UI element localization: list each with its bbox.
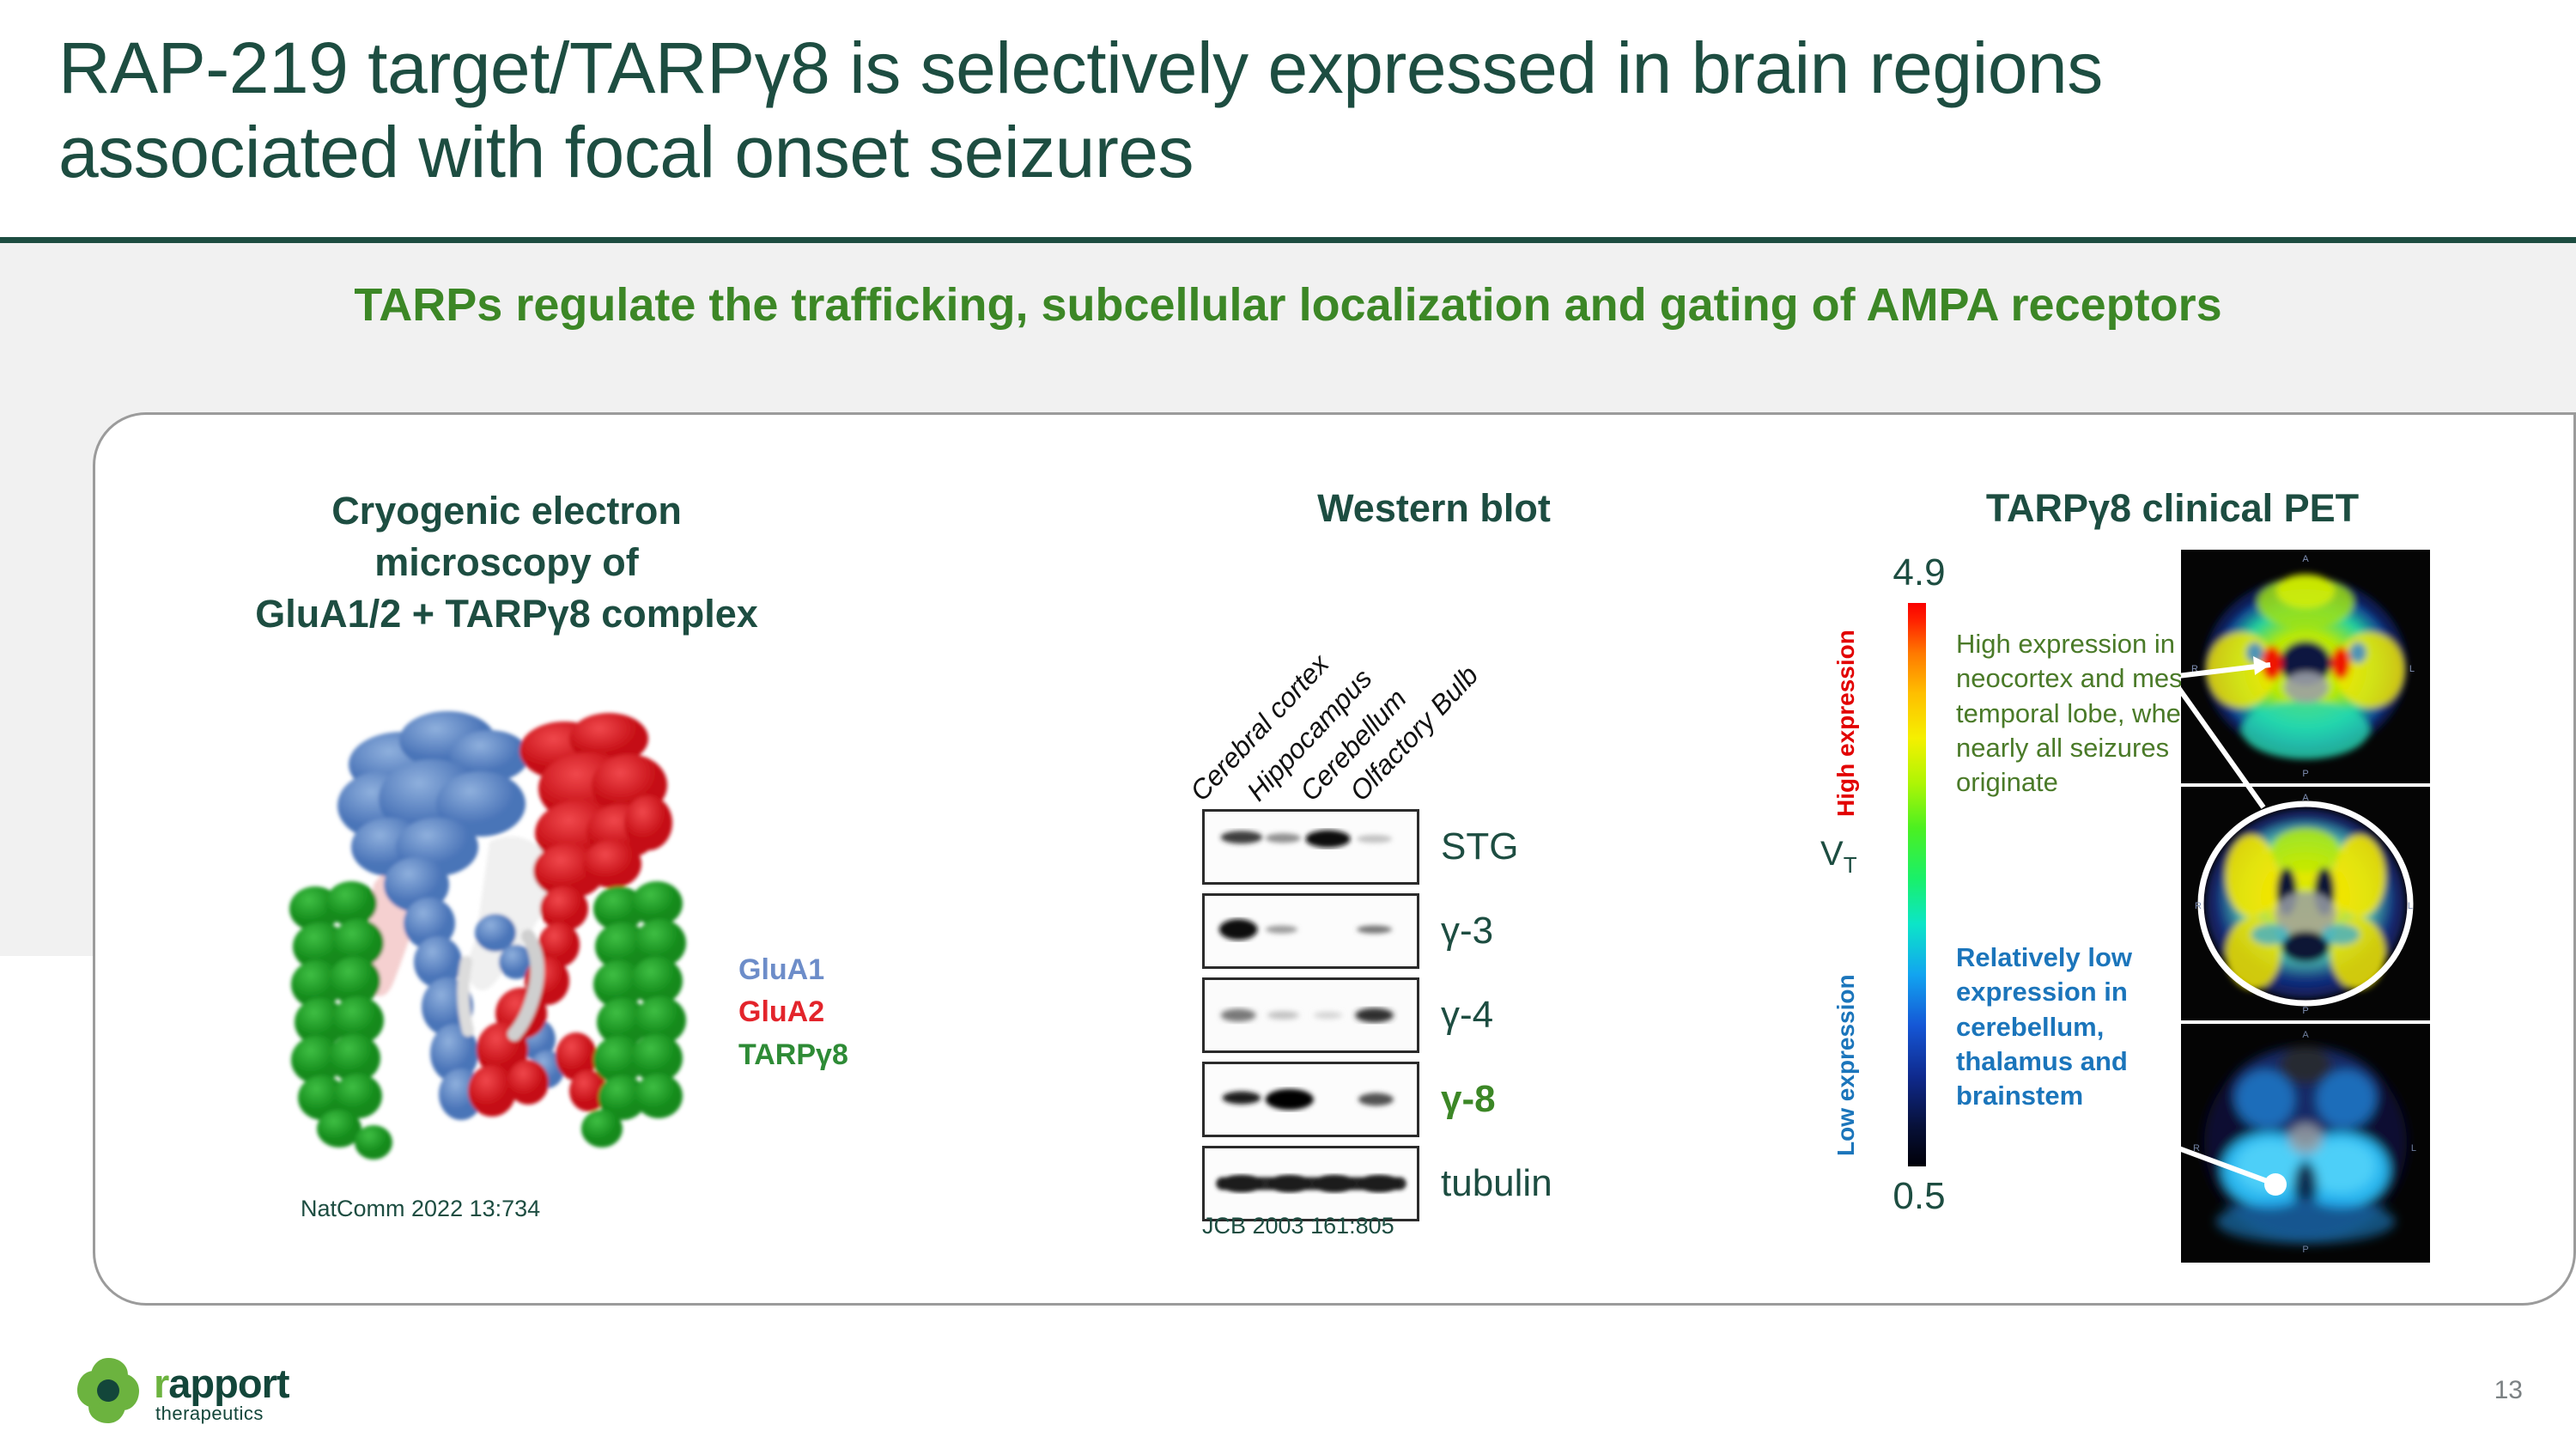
cryo-em-heading-line-3: GluA1/2 + TARPγ8 complex — [155, 588, 859, 640]
svg-text:A: A — [2302, 1030, 2309, 1040]
blot-label-gamma8: γ-8 — [1441, 1062, 1496, 1137]
page-number: 13 — [2494, 1376, 2523, 1405]
colorbar-axis-label: VT — [1820, 835, 1857, 879]
colorbar-axis-label-sub: T — [1844, 852, 1857, 878]
western-blot-figure: Cerebral cortex Hippocampus Cerebellum O… — [1202, 558, 1769, 1228]
blot-row-tubulin — [1202, 1146, 1419, 1221]
svg-text:rapport: rapport — [154, 1361, 290, 1406]
title-divider-rule — [0, 237, 2576, 243]
legend-item-glua2: GluA2 — [738, 991, 848, 1033]
page-title: RAP-219 target/TARPγ8 is selectively exp… — [58, 26, 2377, 195]
svg-text:P: P — [2302, 769, 2308, 779]
cryo-em-legend: GluA1 GluA2 TARPγ8 — [738, 949, 848, 1076]
cryo-em-citation: NatComm 2022 13:734 — [301, 1196, 540, 1222]
cryo-em-panel-heading: Cryogenic electron microscopy of GluA1/2… — [155, 485, 859, 640]
cryo-em-heading-line-2: microscopy of — [155, 537, 859, 588]
blot-label-tubulin: tubulin — [1441, 1146, 1552, 1221]
legend-item-glua1: GluA1 — [738, 949, 848, 991]
cryo-em-structure-image — [245, 679, 726, 1177]
pet-panel-heading: TARPγ8 clinical PET — [1846, 483, 2499, 534]
colorbar-high-expression-label: High expression — [1832, 612, 1858, 835]
pet-figure: 4.9 0.5 High expression Low expression V… — [1838, 558, 2524, 1254]
svg-text:L: L — [2409, 664, 2415, 674]
blot-row-stg — [1202, 809, 1419, 885]
western-blot-panel-heading: Western blot — [1108, 483, 1760, 534]
svg-text:R: R — [2195, 901, 2202, 911]
cryo-em-heading-line-1: Cryogenic electron — [155, 485, 859, 537]
rapport-logo: rapport therapeutics — [70, 1353, 371, 1430]
legend-item-tarpg8: TARPγ8 — [738, 1034, 848, 1076]
blot-row-gamma8 — [1202, 1062, 1419, 1137]
pet-brain-images: A R L P — [2181, 550, 2430, 1263]
blot-label-gamma4: γ-4 — [1441, 977, 1493, 1053]
colorbar-max-value: 4.9 — [1872, 551, 1966, 594]
logo-pinwheel-icon — [77, 1358, 139, 1423]
western-blot-lane-labels: Cerebral cortex Hippocampus Cerebellum O… — [1202, 558, 1546, 807]
blot-row-gamma3 — [1202, 893, 1419, 969]
logo-tagline: therapeutics — [155, 1403, 264, 1424]
svg-text:L: L — [2411, 1143, 2416, 1154]
svg-text:P: P — [2302, 1006, 2308, 1016]
colorbar-min-value: 0.5 — [1872, 1175, 1966, 1218]
blot-label-gamma3: γ-3 — [1441, 893, 1493, 969]
svg-text:A: A — [2302, 793, 2309, 803]
blot-row-gamma4 — [1202, 977, 1419, 1053]
svg-text:P: P — [2302, 1245, 2308, 1255]
page-subtitle: TARPs regulate the trafficking, subcellu… — [326, 275, 2250, 336]
western-blot-citation: JCB 2003 161:805 — [1202, 1213, 1394, 1239]
colorbar-low-expression-label: Low expression — [1832, 962, 1858, 1168]
blot-label-stg: STG — [1441, 809, 1518, 885]
svg-text:L: L — [2408, 901, 2413, 911]
colorbar-axis-label-main: V — [1820, 835, 1844, 873]
svg-text:A: A — [2302, 554, 2309, 564]
pet-colorbar — [1908, 603, 1926, 1166]
